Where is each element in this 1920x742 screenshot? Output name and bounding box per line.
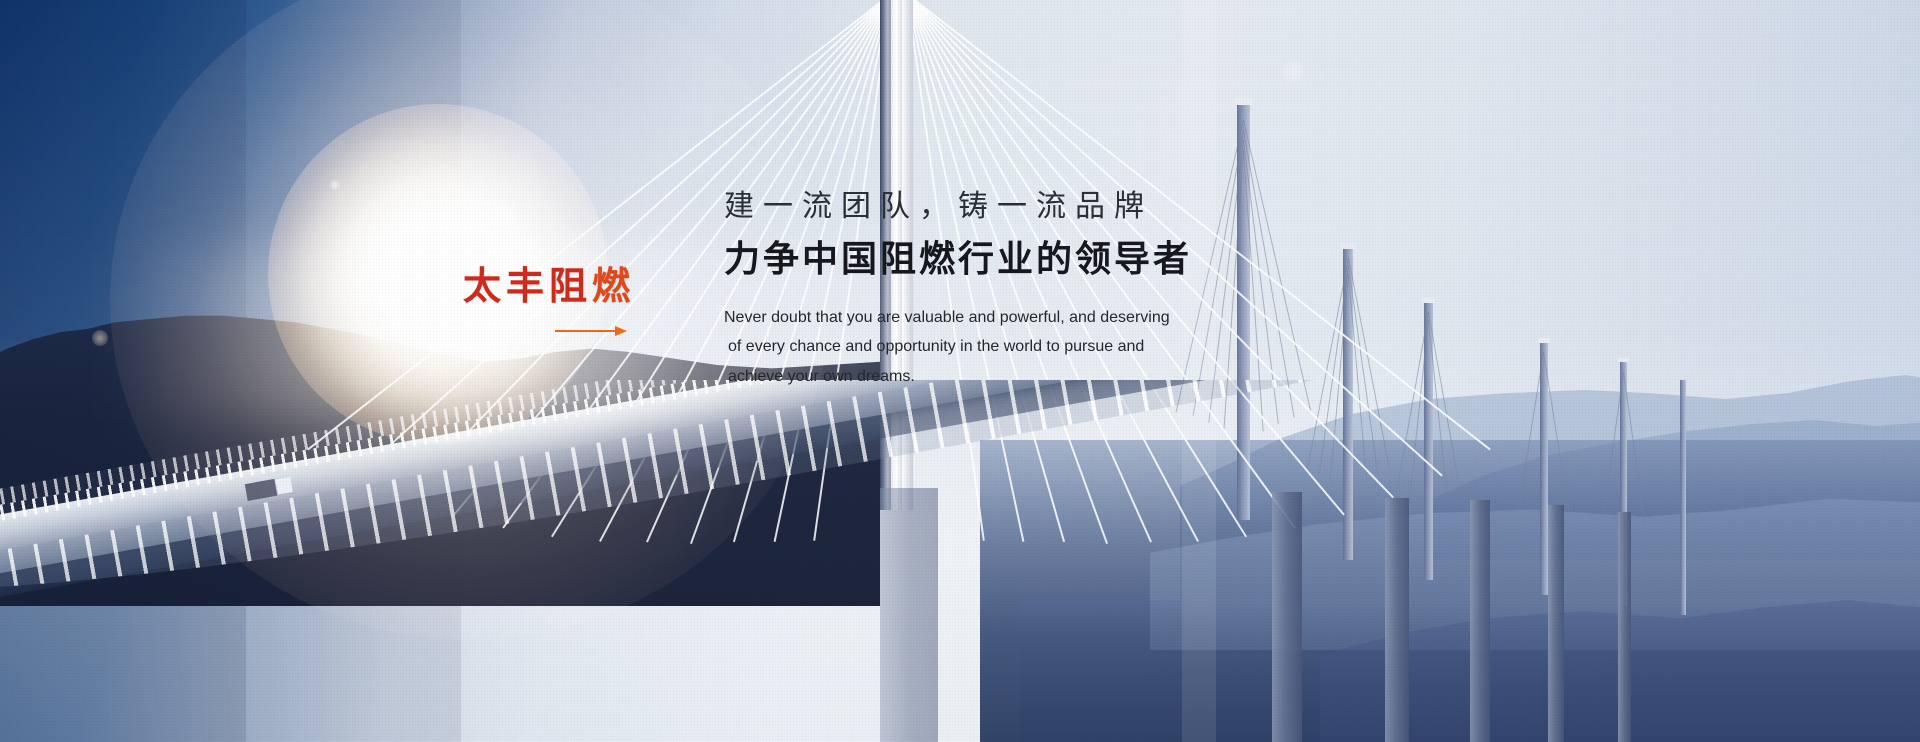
brand-logo-text-accent: 燃 (592, 266, 635, 308)
hero-banner: 太丰阻燃 建一流团队，铸一流品牌 力争中国阻燃行业的领导者 Never doub… (0, 0, 1920, 742)
headline-subtitle: 建一流团队，铸一流品牌 (724, 188, 1424, 226)
bridge-pylon-5-cap (1538, 338, 1550, 343)
bridge-pylon-6-cap (1618, 358, 1629, 362)
arrow-shaft (555, 330, 617, 332)
brand-logo-text: 太丰阻燃 (463, 268, 663, 306)
brand-logo[interactable]: 太丰阻燃 (463, 268, 663, 336)
paragraph-line-3: achieve your own dreams. (724, 362, 1179, 392)
bridge-pylon-2-cap (1234, 98, 1253, 105)
paragraph-line-1: Never doubt that you are valuable and po… (724, 309, 1170, 326)
headline-title: 力争中国阻燃行业的领导者 (724, 238, 1424, 279)
brand-logo-text-primary: 太丰阻 (463, 266, 592, 308)
hero-copy: 建一流团队，铸一流品牌 力争中国阻燃行业的领导者 Never doubt tha… (724, 188, 1424, 392)
paragraph-line-2: of every chance and opportunity in the w… (724, 332, 1179, 362)
arrow-right-icon (555, 326, 627, 336)
hero-paragraph: Never doubt that you are valuable and po… (724, 303, 1179, 392)
arrow-head (615, 326, 627, 336)
